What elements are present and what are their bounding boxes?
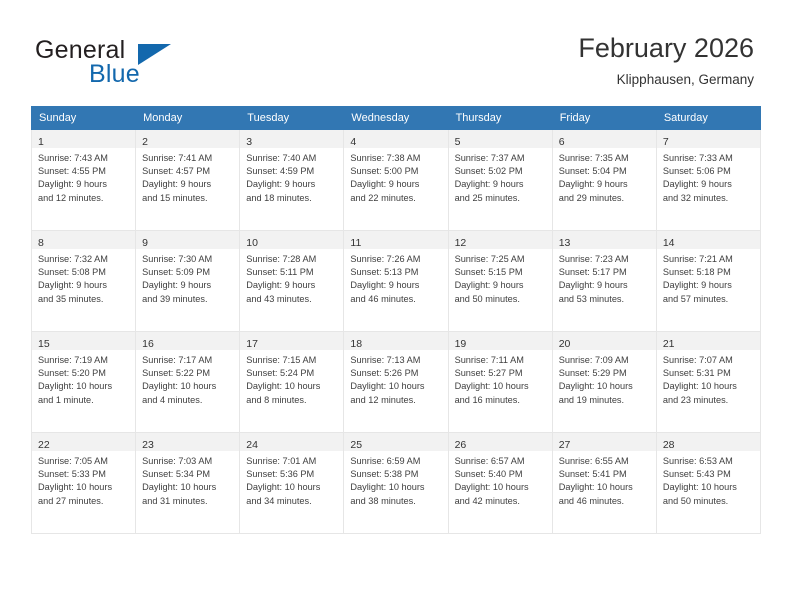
daylight-text-line2: and 19 minutes. [559, 394, 652, 407]
sunrise-text: Sunrise: 6:59 AM [350, 455, 443, 468]
day-cell[interactable]: 22Sunrise: 7:05 AMSunset: 5:33 PMDayligh… [32, 433, 136, 534]
sunrise-text: Sunrise: 7:21 AM [663, 253, 756, 266]
sunrise-text: Sunrise: 7:13 AM [350, 354, 443, 367]
daylight-text-line2: and 27 minutes. [38, 495, 131, 508]
day-cell[interactable]: 5Sunrise: 7:37 AMSunset: 5:02 PMDaylight… [448, 130, 552, 231]
weekday-header-saturday: Saturday [656, 107, 760, 130]
daylight-text-line1: Daylight: 9 hours [38, 178, 131, 191]
weekday-header-wednesday: Wednesday [344, 107, 448, 130]
sunset-text: Sunset: 5:08 PM [38, 266, 131, 279]
day-number: 6 [559, 136, 565, 148]
daylight-text-line1: Daylight: 9 hours [246, 279, 339, 292]
day-cell[interactable]: 2Sunrise: 7:41 AMSunset: 4:57 PMDaylight… [136, 130, 240, 231]
sunrise-text: Sunrise: 7:11 AM [455, 354, 548, 367]
day-cell[interactable]: 9Sunrise: 7:30 AMSunset: 5:09 PMDaylight… [136, 231, 240, 332]
day-number: 3 [246, 136, 252, 148]
calendar-week-row: 8Sunrise: 7:32 AMSunset: 5:08 PMDaylight… [32, 231, 761, 332]
daylight-text-line1: Daylight: 10 hours [559, 380, 652, 393]
day-number: 12 [455, 237, 467, 249]
daylight-text-line2: and 57 minutes. [663, 293, 756, 306]
daylight-text-line2: and 43 minutes. [246, 293, 339, 306]
day-cell[interactable]: 1Sunrise: 7:43 AMSunset: 4:55 PMDaylight… [32, 130, 136, 231]
daylight-text-line2: and 50 minutes. [455, 293, 548, 306]
day-number: 13 [559, 237, 571, 249]
sunrise-text: Sunrise: 6:55 AM [559, 455, 652, 468]
calendar-body: 1Sunrise: 7:43 AMSunset: 4:55 PMDaylight… [32, 130, 761, 534]
daylight-text-line1: Daylight: 9 hours [350, 279, 443, 292]
daylight-text-line1: Daylight: 9 hours [663, 178, 756, 191]
day-cell[interactable]: 10Sunrise: 7:28 AMSunset: 5:11 PMDayligh… [240, 231, 344, 332]
daylight-text-line1: Daylight: 10 hours [350, 380, 443, 393]
daylight-text-line1: Daylight: 10 hours [246, 481, 339, 494]
page-subtitle-location: Klipphausen, Germany [578, 70, 754, 90]
sunset-text: Sunset: 5:11 PM [246, 266, 339, 279]
sunset-text: Sunset: 5:31 PM [663, 367, 756, 380]
sunrise-text: Sunrise: 7:41 AM [142, 152, 235, 165]
sunset-text: Sunset: 4:55 PM [38, 165, 131, 178]
day-number: 11 [350, 237, 361, 249]
sunrise-text: Sunrise: 7:32 AM [38, 253, 131, 266]
daylight-text-line2: and 42 minutes. [455, 495, 548, 508]
day-cell[interactable]: 12Sunrise: 7:25 AMSunset: 5:15 PMDayligh… [448, 231, 552, 332]
daylight-text-line2: and 15 minutes. [142, 192, 235, 205]
day-cell[interactable]: 11Sunrise: 7:26 AMSunset: 5:13 PMDayligh… [344, 231, 448, 332]
day-cell[interactable]: 7Sunrise: 7:33 AMSunset: 5:06 PMDaylight… [656, 130, 760, 231]
day-number: 24 [246, 439, 258, 451]
daylight-text-line2: and 38 minutes. [350, 495, 443, 508]
daylight-text-line1: Daylight: 10 hours [663, 481, 756, 494]
day-cell[interactable]: 6Sunrise: 7:35 AMSunset: 5:04 PMDaylight… [552, 130, 656, 231]
daylight-text-line1: Daylight: 10 hours [142, 481, 235, 494]
daylight-text-line2: and 50 minutes. [663, 495, 756, 508]
sunrise-text: Sunrise: 6:53 AM [663, 455, 756, 468]
sunset-text: Sunset: 5:40 PM [455, 468, 548, 481]
day-number: 17 [246, 338, 258, 350]
day-number: 9 [142, 237, 148, 249]
sunrise-text: Sunrise: 7:01 AM [246, 455, 339, 468]
sunset-text: Sunset: 5:15 PM [455, 266, 548, 279]
title-block: February 2026 Klipphausen, Germany [578, 32, 754, 90]
triangle-flag-icon [138, 44, 171, 65]
sunrise-text: Sunrise: 7:23 AM [559, 253, 652, 266]
day-cell[interactable]: 21Sunrise: 7:07 AMSunset: 5:31 PMDayligh… [656, 332, 760, 433]
weekday-header-tuesday: Tuesday [240, 107, 344, 130]
sunset-text: Sunset: 5:04 PM [559, 165, 652, 178]
day-cell[interactable]: 23Sunrise: 7:03 AMSunset: 5:34 PMDayligh… [136, 433, 240, 534]
daylight-text-line2: and 1 minute. [38, 394, 131, 407]
general-blue-logo[interactable]: General Blue [35, 36, 265, 92]
day-cell[interactable]: 14Sunrise: 7:21 AMSunset: 5:18 PMDayligh… [656, 231, 760, 332]
sunrise-text: Sunrise: 7:28 AM [246, 253, 339, 266]
calendar-page: General Blue February 2026 Klipphausen, … [0, 0, 792, 612]
day-number: 15 [38, 338, 50, 350]
weekday-header-friday: Friday [552, 107, 656, 130]
logo-text-blue: Blue [89, 60, 140, 89]
sunrise-text: Sunrise: 7:37 AM [455, 152, 548, 165]
daylight-text-line2: and 12 minutes. [38, 192, 131, 205]
daylight-text-line1: Daylight: 10 hours [455, 380, 548, 393]
day-cell[interactable]: 13Sunrise: 7:23 AMSunset: 5:17 PMDayligh… [552, 231, 656, 332]
day-cell[interactable]: 4Sunrise: 7:38 AMSunset: 5:00 PMDaylight… [344, 130, 448, 231]
daylight-text-line2: and 32 minutes. [663, 192, 756, 205]
sunrise-text: Sunrise: 7:09 AM [559, 354, 652, 367]
day-number: 1 [38, 136, 44, 148]
sunrise-text: Sunrise: 7:25 AM [455, 253, 548, 266]
day-number: 10 [246, 237, 258, 249]
daylight-text-line1: Daylight: 10 hours [350, 481, 443, 494]
sunrise-text: Sunrise: 7:03 AM [142, 455, 235, 468]
sunset-text: Sunset: 5:33 PM [38, 468, 131, 481]
daylight-text-line2: and 34 minutes. [246, 495, 339, 508]
sunrise-text: Sunrise: 7:26 AM [350, 253, 443, 266]
sunset-text: Sunset: 5:41 PM [559, 468, 652, 481]
calendar-week-row: 22Sunrise: 7:05 AMSunset: 5:33 PMDayligh… [32, 433, 761, 534]
daylight-text-line2: and 16 minutes. [455, 394, 548, 407]
day-number: 2 [142, 136, 148, 148]
sunrise-text: Sunrise: 7:05 AM [38, 455, 131, 468]
day-cell[interactable]: 8Sunrise: 7:32 AMSunset: 5:08 PMDaylight… [32, 231, 136, 332]
calendar-week-row: 1Sunrise: 7:43 AMSunset: 4:55 PMDaylight… [32, 130, 761, 231]
daylight-text-line2: and 53 minutes. [559, 293, 652, 306]
day-cell[interactable]: 20Sunrise: 7:09 AMSunset: 5:29 PMDayligh… [552, 332, 656, 433]
daylight-text-line1: Daylight: 10 hours [455, 481, 548, 494]
daylight-text-line1: Daylight: 9 hours [455, 279, 548, 292]
day-number: 4 [350, 136, 356, 148]
day-cell[interactable]: 17Sunrise: 7:15 AMSunset: 5:24 PMDayligh… [240, 332, 344, 433]
daylight-text-line2: and 23 minutes. [663, 394, 756, 407]
day-cell[interactable]: 26Sunrise: 6:57 AMSunset: 5:40 PMDayligh… [448, 433, 552, 534]
day-number: 16 [142, 338, 154, 350]
sunset-text: Sunset: 5:38 PM [350, 468, 443, 481]
calendar-header-row: Sunday Monday Tuesday Wednesday Thursday… [32, 107, 761, 130]
daylight-text-line1: Daylight: 10 hours [38, 481, 131, 494]
weekday-header-thursday: Thursday [448, 107, 552, 130]
day-number: 7 [663, 136, 669, 148]
day-number: 23 [142, 439, 154, 451]
daylight-text-line1: Daylight: 10 hours [142, 380, 235, 393]
sunrise-text: Sunrise: 6:57 AM [455, 455, 548, 468]
sunset-text: Sunset: 5:17 PM [559, 266, 652, 279]
sunset-text: Sunset: 5:00 PM [350, 165, 443, 178]
sunset-text: Sunset: 5:26 PM [350, 367, 443, 380]
daylight-text-line1: Daylight: 9 hours [350, 178, 443, 191]
sunrise-text: Sunrise: 7:30 AM [142, 253, 235, 266]
daylight-text-line2: and 35 minutes. [38, 293, 131, 306]
daylight-text-line2: and 12 minutes. [350, 394, 443, 407]
daylight-text-line2: and 31 minutes. [142, 495, 235, 508]
daylight-text-line1: Daylight: 9 hours [455, 178, 548, 191]
daylight-text-line2: and 46 minutes. [559, 495, 652, 508]
day-number: 18 [350, 338, 362, 350]
daylight-text-line2: and 18 minutes. [246, 192, 339, 205]
daylight-text-line2: and 8 minutes. [246, 394, 339, 407]
sunset-text: Sunset: 5:20 PM [38, 367, 131, 380]
sunrise-text: Sunrise: 7:17 AM [142, 354, 235, 367]
daylight-text-line2: and 46 minutes. [350, 293, 443, 306]
sunset-text: Sunset: 4:59 PM [246, 165, 339, 178]
daylight-text-line1: Daylight: 10 hours [663, 380, 756, 393]
daylight-text-line2: and 29 minutes. [559, 192, 652, 205]
day-cell[interactable]: 19Sunrise: 7:11 AMSunset: 5:27 PMDayligh… [448, 332, 552, 433]
daylight-text-line1: Daylight: 9 hours [246, 178, 339, 191]
day-cell[interactable]: 25Sunrise: 6:59 AMSunset: 5:38 PMDayligh… [344, 433, 448, 534]
sunset-text: Sunset: 5:13 PM [350, 266, 443, 279]
sunrise-text: Sunrise: 7:40 AM [246, 152, 339, 165]
sunrise-text: Sunrise: 7:33 AM [663, 152, 756, 165]
sunset-text: Sunset: 5:18 PM [663, 266, 756, 279]
day-cell[interactable]: 27Sunrise: 6:55 AMSunset: 5:41 PMDayligh… [552, 433, 656, 534]
daylight-text-line1: Daylight: 9 hours [663, 279, 756, 292]
daylight-text-line1: Daylight: 9 hours [559, 178, 652, 191]
daylight-text-line2: and 39 minutes. [142, 293, 235, 306]
day-cell[interactable]: 18Sunrise: 7:13 AMSunset: 5:26 PMDayligh… [344, 332, 448, 433]
sunset-text: Sunset: 5:09 PM [142, 266, 235, 279]
daylight-text-line1: Daylight: 9 hours [38, 279, 131, 292]
day-number: 14 [663, 237, 675, 249]
sunset-text: Sunset: 5:36 PM [246, 468, 339, 481]
sunrise-text: Sunrise: 7:43 AM [38, 152, 131, 165]
sunrise-text: Sunrise: 7:07 AM [663, 354, 756, 367]
day-number: 8 [38, 237, 44, 249]
day-number: 25 [350, 439, 362, 451]
day-cell[interactable]: 15Sunrise: 7:19 AMSunset: 5:20 PMDayligh… [32, 332, 136, 433]
weekday-header-monday: Monday [136, 107, 240, 130]
sunrise-text: Sunrise: 7:19 AM [38, 354, 131, 367]
weekday-header-sunday: Sunday [32, 107, 136, 130]
daylight-text-line2: and 4 minutes. [142, 394, 235, 407]
day-number: 28 [663, 439, 675, 451]
sunset-text: Sunset: 5:27 PM [455, 367, 548, 380]
page-title: February 2026 [578, 32, 754, 64]
sunrise-text: Sunrise: 7:35 AM [559, 152, 652, 165]
calendar-week-row: 15Sunrise: 7:19 AMSunset: 5:20 PMDayligh… [32, 332, 761, 433]
daylight-text-line1: Daylight: 10 hours [559, 481, 652, 494]
sunset-text: Sunset: 5:02 PM [455, 165, 548, 178]
page-header: General Blue February 2026 Klipphausen, … [0, 0, 792, 100]
daylight-text-line1: Daylight: 9 hours [559, 279, 652, 292]
calendar-table: Sunday Monday Tuesday Wednesday Thursday… [31, 106, 761, 534]
daylight-text-line1: Daylight: 10 hours [38, 380, 131, 393]
day-number: 27 [559, 439, 571, 451]
sunset-text: Sunset: 5:29 PM [559, 367, 652, 380]
day-cell[interactable]: 28Sunrise: 6:53 AMSunset: 5:43 PMDayligh… [656, 433, 760, 534]
day-cell[interactable]: 16Sunrise: 7:17 AMSunset: 5:22 PMDayligh… [136, 332, 240, 433]
day-number: 21 [663, 338, 675, 350]
day-cell[interactable]: 24Sunrise: 7:01 AMSunset: 5:36 PMDayligh… [240, 433, 344, 534]
day-number: 26 [455, 439, 467, 451]
sunrise-text: Sunrise: 7:15 AM [246, 354, 339, 367]
daylight-text-line1: Daylight: 9 hours [142, 279, 235, 292]
daylight-text-line2: and 22 minutes. [350, 192, 443, 205]
daylight-text-line2: and 25 minutes. [455, 192, 548, 205]
sunset-text: Sunset: 5:06 PM [663, 165, 756, 178]
sunset-text: Sunset: 5:24 PM [246, 367, 339, 380]
day-number: 20 [559, 338, 571, 350]
day-number: 22 [38, 439, 50, 451]
day-number: 19 [455, 338, 467, 350]
sunset-text: Sunset: 5:43 PM [663, 468, 756, 481]
day-number: 5 [455, 136, 461, 148]
daylight-text-line1: Daylight: 9 hours [142, 178, 235, 191]
sunset-text: Sunset: 5:34 PM [142, 468, 235, 481]
sunrise-text: Sunrise: 7:38 AM [350, 152, 443, 165]
sunset-text: Sunset: 5:22 PM [142, 367, 235, 380]
day-cell[interactable]: 3Sunrise: 7:40 AMSunset: 4:59 PMDaylight… [240, 130, 344, 231]
sunset-text: Sunset: 4:57 PM [142, 165, 235, 178]
daylight-text-line1: Daylight: 10 hours [246, 380, 339, 393]
